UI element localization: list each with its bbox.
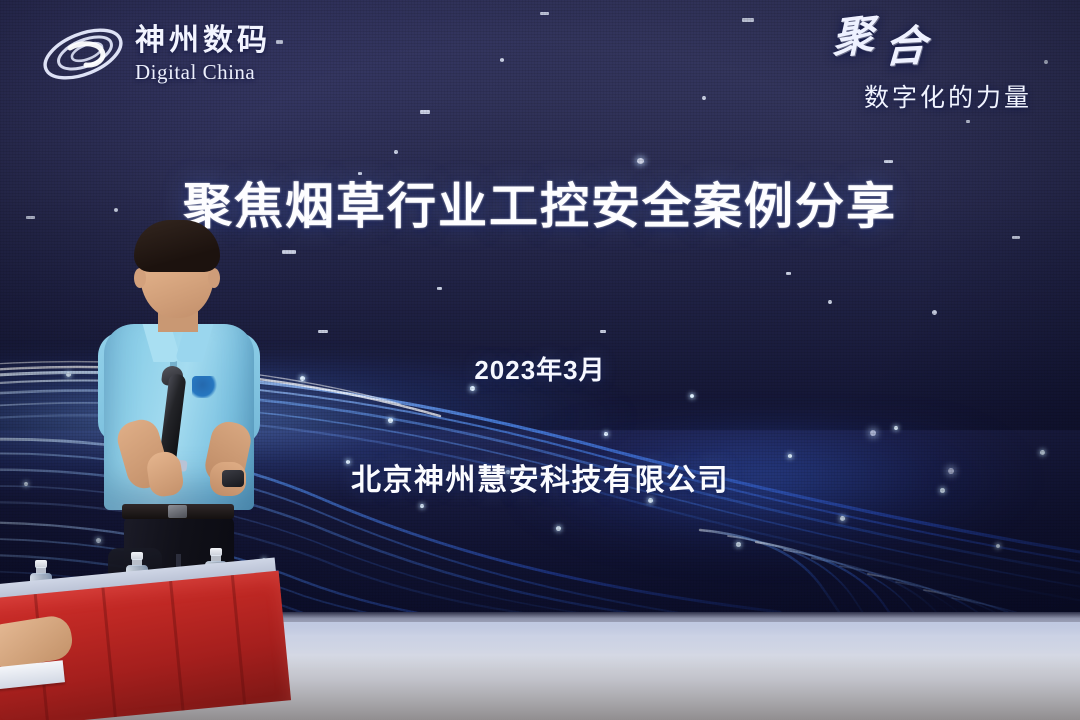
digital-china-logo: 神州数码 Digital China (40, 24, 271, 84)
calligraphy-char-2: 合 (883, 29, 923, 69)
event-logo: 聚合 数字化的力量 (804, 16, 1054, 120)
calligraphy-char-1: 聚 (832, 13, 871, 64)
digital-china-swirl-icon (40, 24, 126, 84)
shirt-logo-icon (192, 376, 218, 398)
event-logo-calligraphy: 聚合 (832, 13, 908, 60)
speaker-ear-right (208, 268, 220, 288)
speaker-hair (134, 220, 220, 272)
presentation-clicker-icon (222, 470, 244, 487)
event-logo-tagline: 数字化的力量 (864, 78, 1032, 114)
seated-attendee (0, 612, 82, 720)
logo-chinese-text: 神州数码 (135, 26, 271, 56)
logo-english-text: Digital China (135, 62, 271, 83)
belt-buckle (168, 505, 187, 518)
conference-photo: 聚焦烟草行业工控安全案例分享 2023年3月 北京神州慧安科技有限公司 神州数码… (0, 0, 1080, 720)
